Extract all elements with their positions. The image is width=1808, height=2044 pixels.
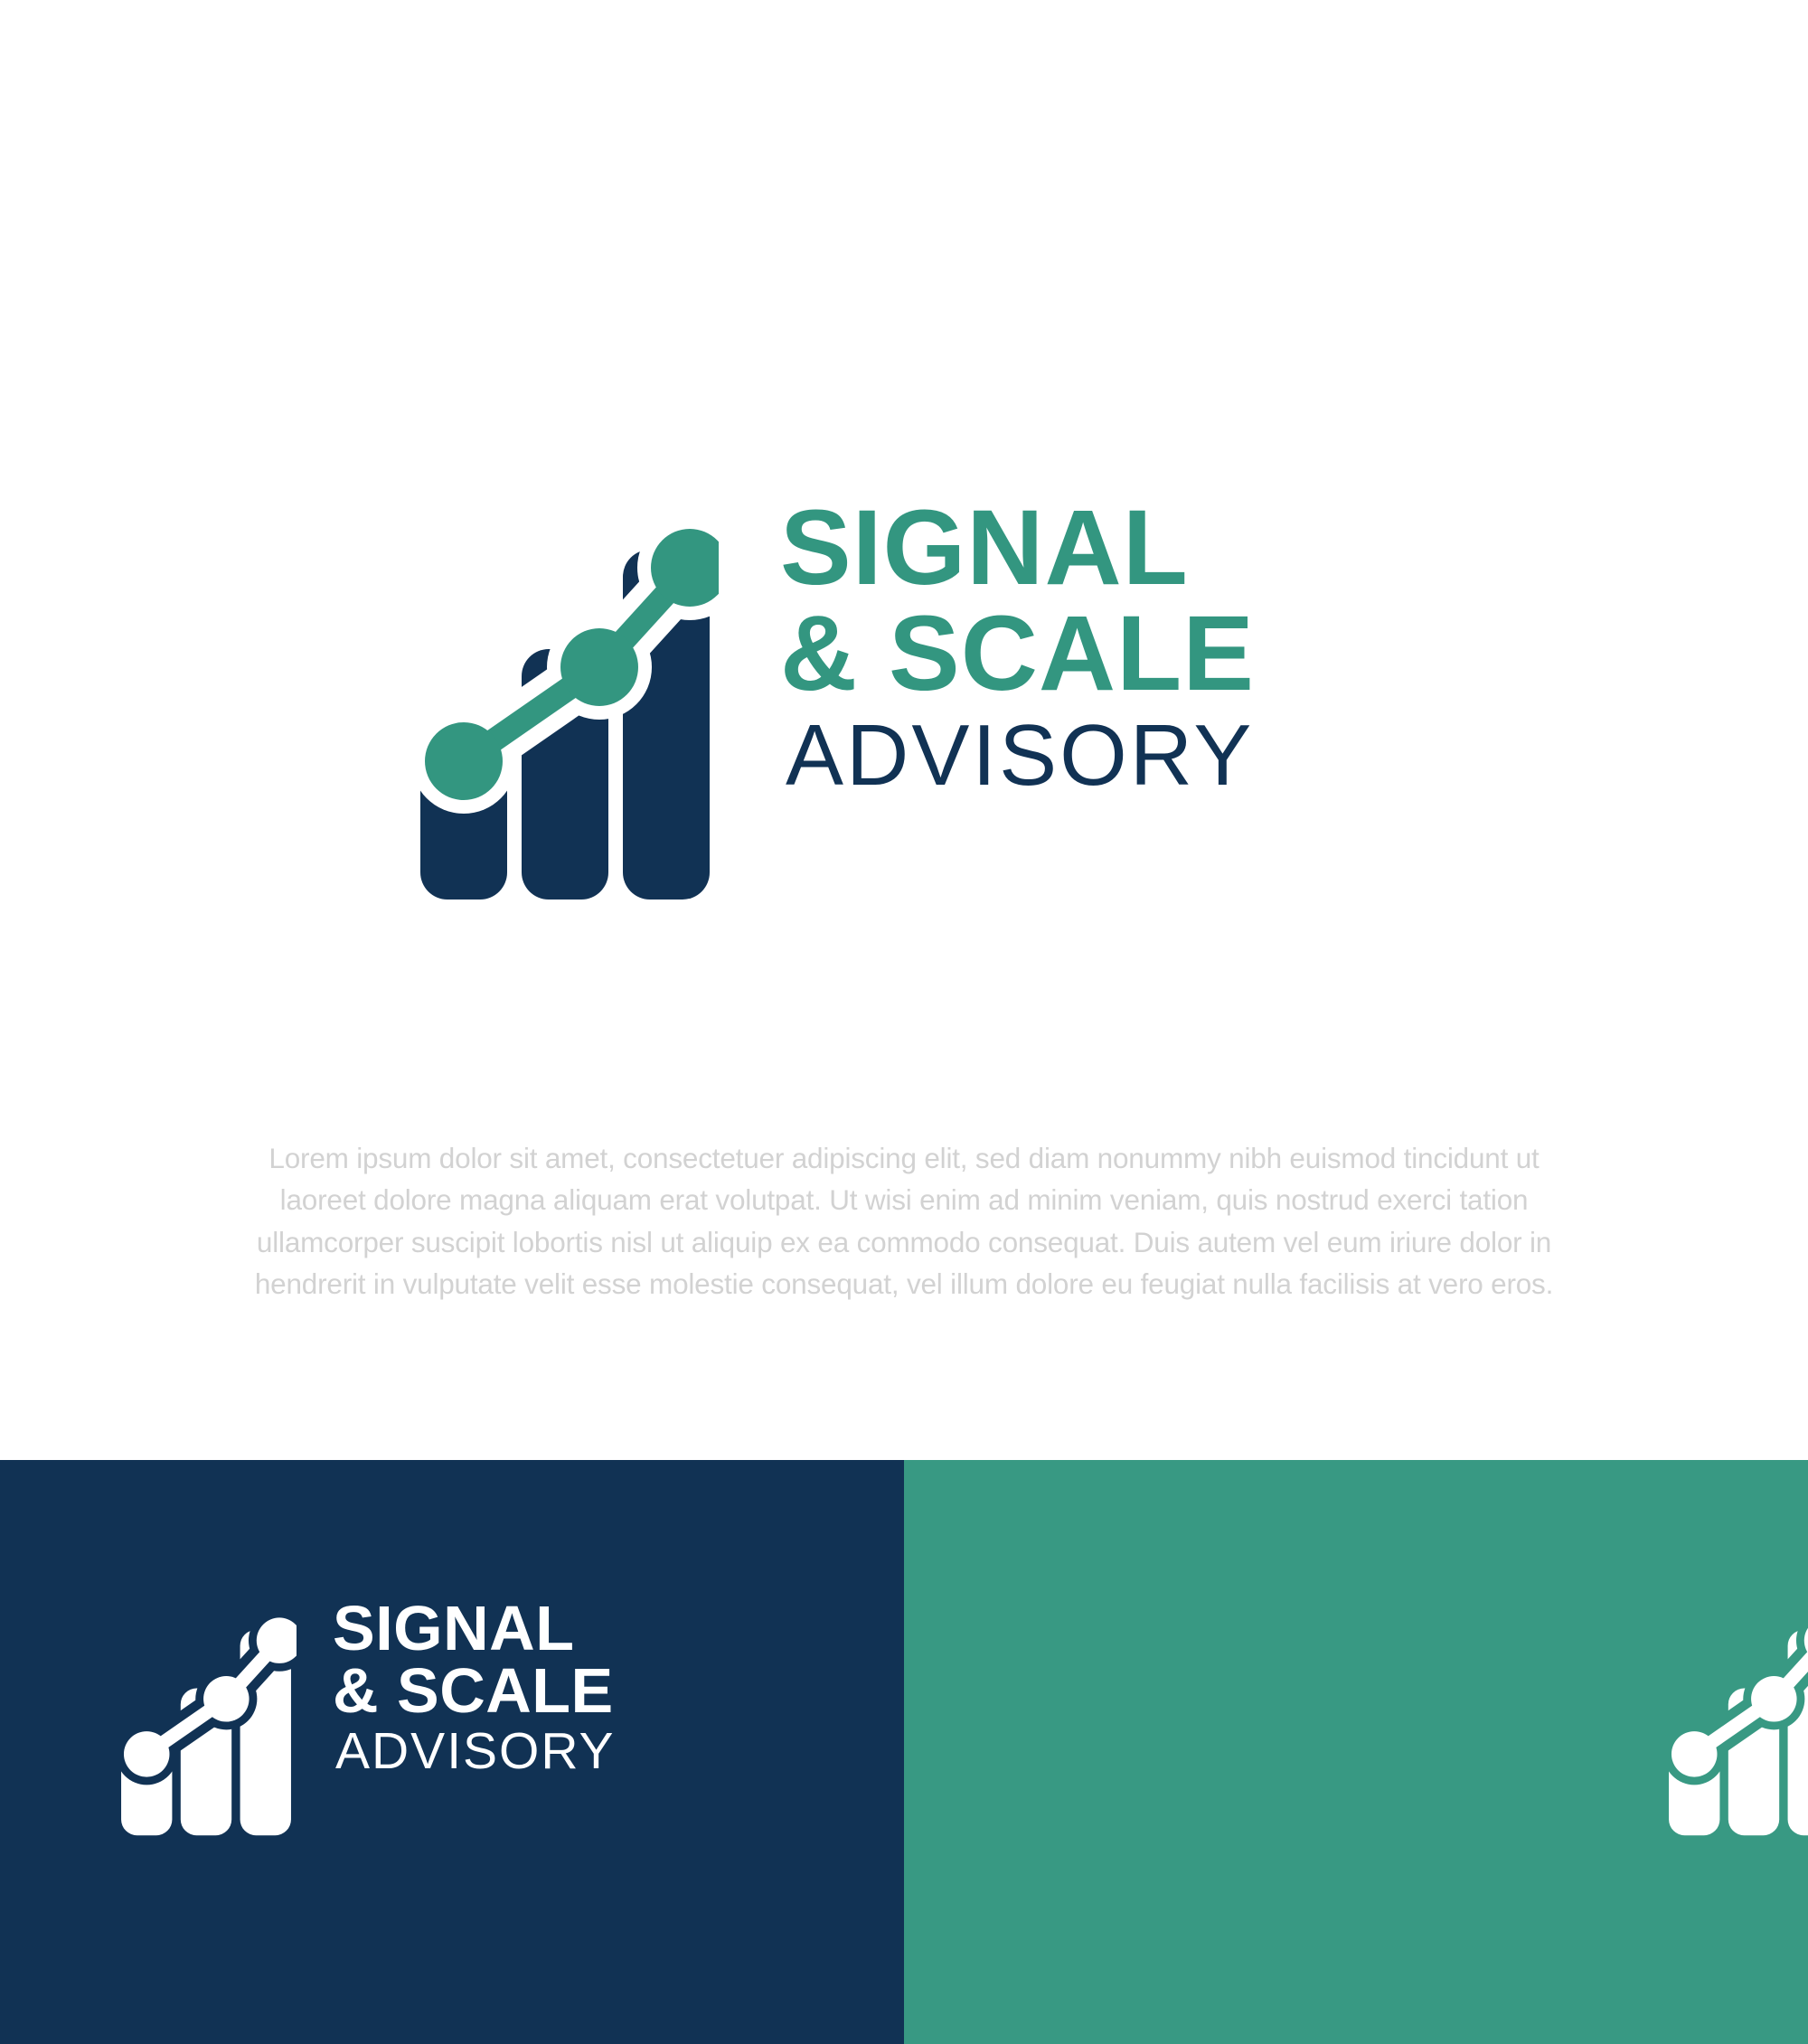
navy-panel-logo-lockup: SIGNAL & SCALE ADVISORY: [116, 1594, 616, 1843]
wordmark-line-advisory: ADVISORY: [333, 1723, 616, 1781]
wordmark-line-advisory: ADVISORY: [780, 707, 1255, 805]
trendline-node-1: [1671, 1731, 1718, 1777]
growth-bar-chart-with-trendline-icon: [116, 1594, 297, 1843]
wordmark-line-and-scale: & SCALE: [333, 1660, 616, 1722]
trendline-node-1: [124, 1731, 170, 1777]
trendline-node-1: [425, 722, 503, 800]
logo-showcase-area: SIGNAL & SCALE ADVISORY Lorem ipsum dolo…: [0, 0, 1808, 1460]
placeholder-description-paragraph: Lorem ipsum dolor sit amet, consectetuer…: [226, 1137, 1582, 1305]
navy-panel-wordmark: SIGNAL & SCALE ADVISORY: [333, 1594, 616, 1780]
trendline-node-2: [1751, 1676, 1797, 1722]
wordmark-line-signal: SIGNAL: [780, 495, 1255, 601]
green-color-panel: SIGNAL & SCALE ADVISORY: [904, 1460, 1808, 2044]
trendline-node-2: [203, 1676, 250, 1722]
color-variant-panels: SIGNAL & SCALE ADVISORY: [0, 1460, 1808, 2044]
primary-logo-lockup: SIGNAL & SCALE ADVISORY: [411, 488, 1383, 913]
trendline-node-2: [560, 628, 638, 706]
green-panel-logo-lockup: SIGNAL & SCALE ADVISORY: [1663, 1594, 1808, 1843]
wordmark-line-and-scale: & SCALE: [780, 601, 1255, 707]
navy-color-panel: SIGNAL & SCALE ADVISORY: [0, 1460, 904, 2044]
primary-wordmark: SIGNAL & SCALE ADVISORY: [780, 488, 1255, 804]
growth-bar-chart-with-trendline-icon: [1663, 1594, 1808, 1843]
growth-bar-chart-with-trendline-icon: [411, 488, 719, 913]
wordmark-line-signal: SIGNAL: [333, 1597, 616, 1660]
